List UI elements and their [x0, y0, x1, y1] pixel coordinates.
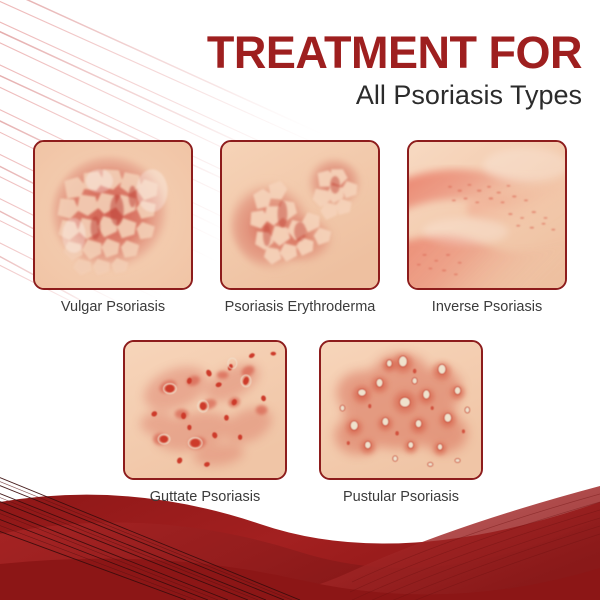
card-vulgar-psoriasis[interactable]: Vulgar Psoriasis	[33, 140, 193, 316]
card-label: Psoriasis Erythroderma	[225, 299, 376, 316]
page-subtitle: All Psoriasis Types	[162, 79, 582, 113]
card-inverse-psoriasis[interactable]: Inverse Psoriasis	[407, 140, 567, 316]
psoriasis-erythroderma-image	[220, 140, 380, 290]
card-label: Pustular Psoriasis	[343, 489, 459, 506]
card-pustular-psoriasis[interactable]: Pustular Psoriasis	[319, 340, 483, 506]
card-row-bottom: Guttate Psoriasis	[123, 340, 483, 506]
card-label: Guttate Psoriasis	[150, 489, 260, 506]
header: TREATMENT FOR All Psoriasis Types	[162, 30, 582, 113]
pustular-psoriasis-image	[319, 340, 483, 480]
card-row-top: Vulgar Psoriasis	[33, 140, 567, 316]
card-guttate-psoriasis[interactable]: Guttate Psoriasis	[123, 340, 287, 506]
page-title: TREATMENT FOR	[162, 30, 582, 75]
card-label: Inverse Psoriasis	[432, 299, 542, 316]
card-label: Vulgar Psoriasis	[61, 299, 165, 316]
card-psoriasis-erythroderma[interactable]: Psoriasis Erythroderma	[220, 140, 380, 316]
guttate-psoriasis-image	[123, 340, 287, 480]
inverse-psoriasis-image	[407, 140, 567, 290]
vulgar-psoriasis-image	[33, 140, 193, 290]
